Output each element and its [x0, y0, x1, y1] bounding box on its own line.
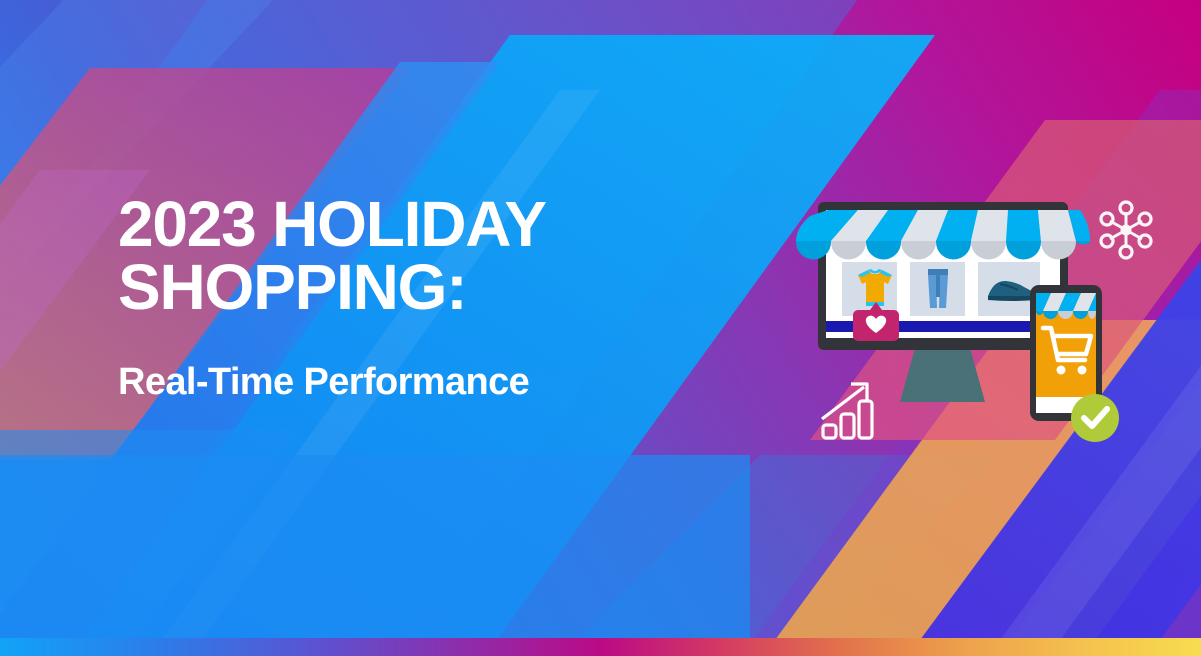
rainbow-strip — [0, 638, 1201, 656]
check-badge — [1071, 394, 1119, 442]
headline-block: 2023 HOLIDAY SHOPPING: Real-Time Perform… — [118, 193, 546, 404]
page-title: 2023 HOLIDAY SHOPPING: — [118, 193, 546, 318]
page-subtitle: Real-Time Performance — [118, 318, 546, 404]
network-hub-icon — [1101, 202, 1151, 258]
cart-wheel-left — [1057, 366, 1066, 375]
growth-chart-icon — [822, 384, 872, 438]
jeans-product-card — [910, 262, 965, 316]
ecommerce-storefront-illustration — [790, 180, 1190, 470]
tshirt-product-card — [842, 262, 897, 316]
awning-stripes — [796, 210, 1090, 241]
monitor-stand — [900, 348, 985, 402]
cart-wheel-right — [1078, 366, 1087, 375]
holiday-shopping-banner: 2023 HOLIDAY SHOPPING: Real-Time Perform… — [0, 0, 1201, 656]
shop-awning — [796, 210, 1090, 260]
